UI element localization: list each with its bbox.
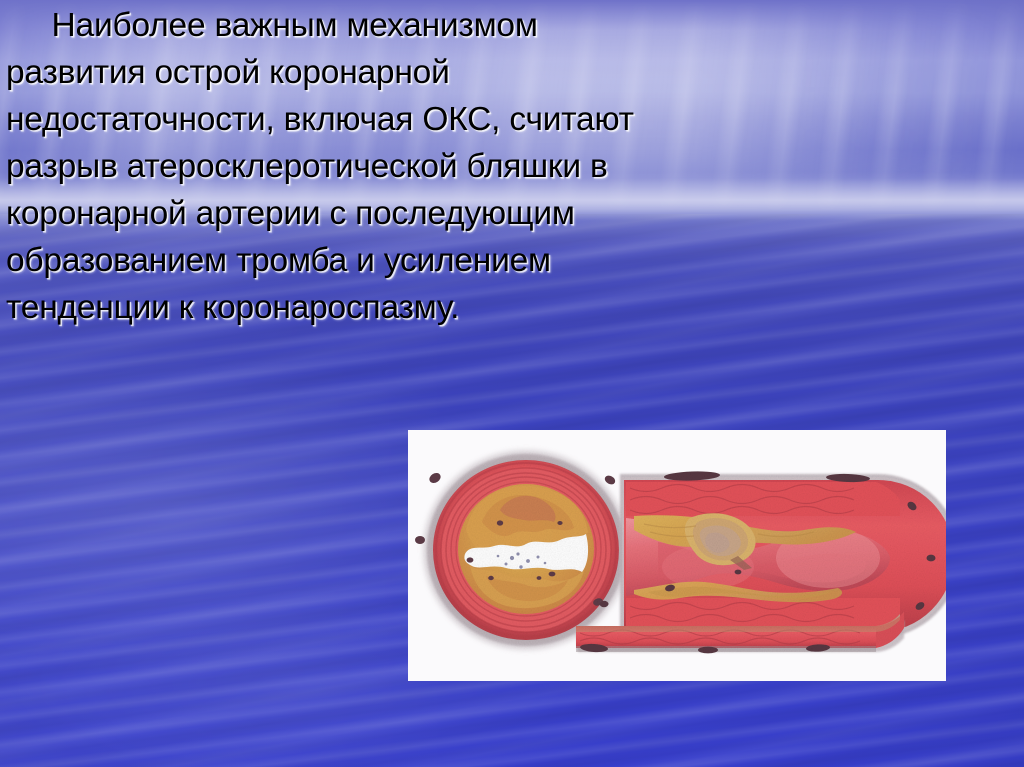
artery-atherosclerosis-figure xyxy=(408,430,946,681)
presentation-slide: Наиболее важным механизмом развития остр… xyxy=(0,0,1024,767)
slide-body-text: Наиболее важным механизмом развития остр… xyxy=(6,2,654,331)
